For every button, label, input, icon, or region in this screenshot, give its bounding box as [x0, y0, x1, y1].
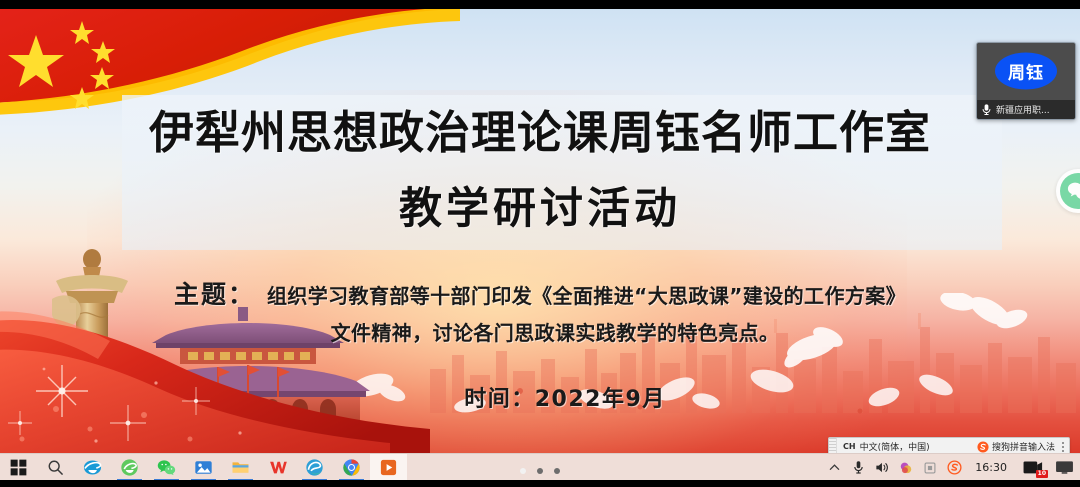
system-tray: 16:30 10 — [822, 454, 1080, 481]
tray-network[interactable] — [918, 454, 942, 481]
windows-taskbar[interactable]: 16:30 10 — [0, 453, 1080, 481]
ime-engine-label: 搜狗拼音输入法 — [992, 440, 1055, 453]
edge-icon — [305, 458, 324, 477]
ime-language-status[interactable]: CH 中文(简体，中国) — [837, 440, 936, 453]
microphone-icon — [853, 460, 864, 475]
taskbar-app-wechat[interactable] — [148, 454, 185, 481]
show-desktop-button[interactable] — [1050, 454, 1078, 481]
sogou-icon — [977, 441, 989, 453]
taskbar-app-edge[interactable] — [296, 454, 333, 481]
taskbar-app-chrome[interactable] — [333, 454, 370, 481]
internet-explorer-icon — [83, 458, 102, 477]
search-button[interactable] — [37, 454, 74, 481]
title-banner — [122, 95, 1002, 250]
app-icon — [899, 461, 913, 475]
wps-office-icon — [268, 458, 287, 477]
ime-engine[interactable]: 搜狗拼音输入法 — [977, 440, 1060, 453]
tray-volume[interactable] — [870, 454, 894, 481]
chevron-up-icon — [829, 463, 840, 472]
participant-video-area: 周钰 — [977, 43, 1075, 100]
more-options-icon[interactable] — [1060, 442, 1069, 452]
page-dot[interactable] — [537, 468, 543, 474]
taskbar-app-browser[interactable] — [111, 454, 148, 481]
wechat-icon — [157, 458, 176, 477]
avatar: 周钰 — [995, 53, 1057, 90]
ime-language-label: 中文(简体，中国) — [860, 440, 930, 453]
photos-icon — [194, 458, 213, 477]
chrome-icon — [342, 458, 361, 477]
sparkle-effects-graphic — [0, 273, 560, 453]
wechat-icon — [1060, 173, 1080, 209]
participant-video-tile[interactable]: 周钰 新疆应用职... — [976, 42, 1076, 120]
file-explorer-icon — [231, 458, 250, 477]
show-desktop-icon — [1055, 460, 1074, 475]
taskbar-apps — [0, 454, 407, 481]
taskbar-app-ie[interactable] — [74, 454, 111, 481]
video-player-icon — [379, 458, 398, 477]
network-icon — [923, 461, 937, 475]
sogou-icon — [947, 460, 962, 475]
windows-logo-icon — [10, 459, 27, 476]
start-button[interactable] — [0, 454, 37, 481]
taskbar-app-explorer[interactable] — [222, 454, 259, 481]
taskbar-app-video[interactable] — [370, 454, 407, 481]
taskbar-clock[interactable]: 16:30 — [966, 461, 1016, 474]
participant-name-bar: 新疆应用职... — [977, 100, 1075, 119]
green-browser-icon — [120, 458, 139, 477]
tray-microphone[interactable] — [846, 454, 870, 481]
taskbar-app-photos[interactable] — [185, 454, 222, 481]
ime-mode-tag: CH — [843, 442, 856, 451]
taskbar-app-wps[interactable] — [259, 454, 296, 481]
top-letterbox — [0, 0, 1080, 9]
search-icon — [47, 459, 64, 476]
page-dot[interactable] — [554, 468, 560, 474]
recording-badge: 10 — [1036, 470, 1048, 478]
screen-share-window: 伊犁州思想政治理论课周钰名师工作室 教学研讨活动 主题：组织学习教育部等十部门印… — [0, 0, 1080, 487]
presentation-slide: 伊犁州思想政治理论课周钰名师工作室 教学研讨活动 主题：组织学习教育部等十部门印… — [0, 9, 1080, 453]
page-dot[interactable] — [520, 468, 526, 474]
bottom-letterbox — [0, 480, 1080, 487]
participant-name: 新疆应用职... — [996, 103, 1050, 116]
tray-app-color[interactable] — [894, 454, 918, 481]
page-indicator-dots[interactable] — [520, 468, 560, 474]
tray-show-hidden[interactable] — [822, 454, 846, 481]
microphone-icon — [981, 103, 992, 116]
avatar-initials: 周钰 — [1008, 59, 1044, 84]
screen-recording-indicator[interactable]: 10 — [1016, 454, 1050, 481]
tray-sogou[interactable] — [942, 454, 966, 481]
speaker-icon — [875, 461, 890, 474]
